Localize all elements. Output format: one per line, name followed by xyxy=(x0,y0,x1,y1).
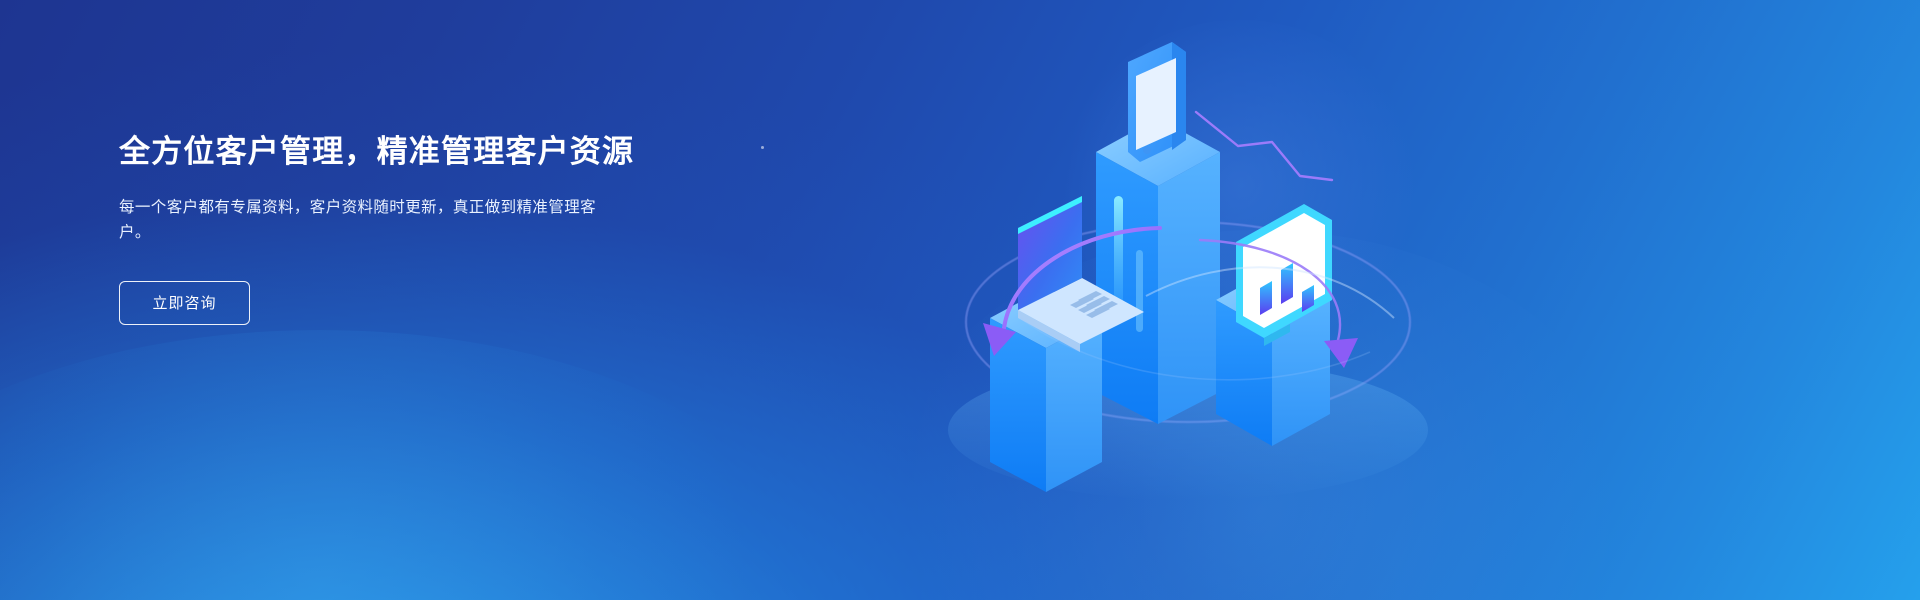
page-title: 全方位客户管理，精准管理客户资源 xyxy=(119,133,739,172)
sparkle-dot xyxy=(761,146,764,149)
center-pillar xyxy=(1096,118,1220,424)
glow-blob-left xyxy=(0,330,820,600)
hero-illustration xyxy=(900,0,1460,600)
hero-banner: 全方位客户管理，精准管理客户资源 每一个客户都有专属资料，客户资料随时更新，真正… xyxy=(0,0,1920,600)
tablet-device xyxy=(1128,42,1186,162)
hero-subtitle: 每一个客户都有专属资料，客户资料随时更新，真正做到精准管理客户。 xyxy=(119,195,605,245)
hero-copy-block: 全方位客户管理，精准管理客户资源 每一个客户都有专属资料，客户资料随时更新，真正… xyxy=(119,133,739,325)
consult-now-button[interactable]: 立即咨询 xyxy=(119,281,250,325)
